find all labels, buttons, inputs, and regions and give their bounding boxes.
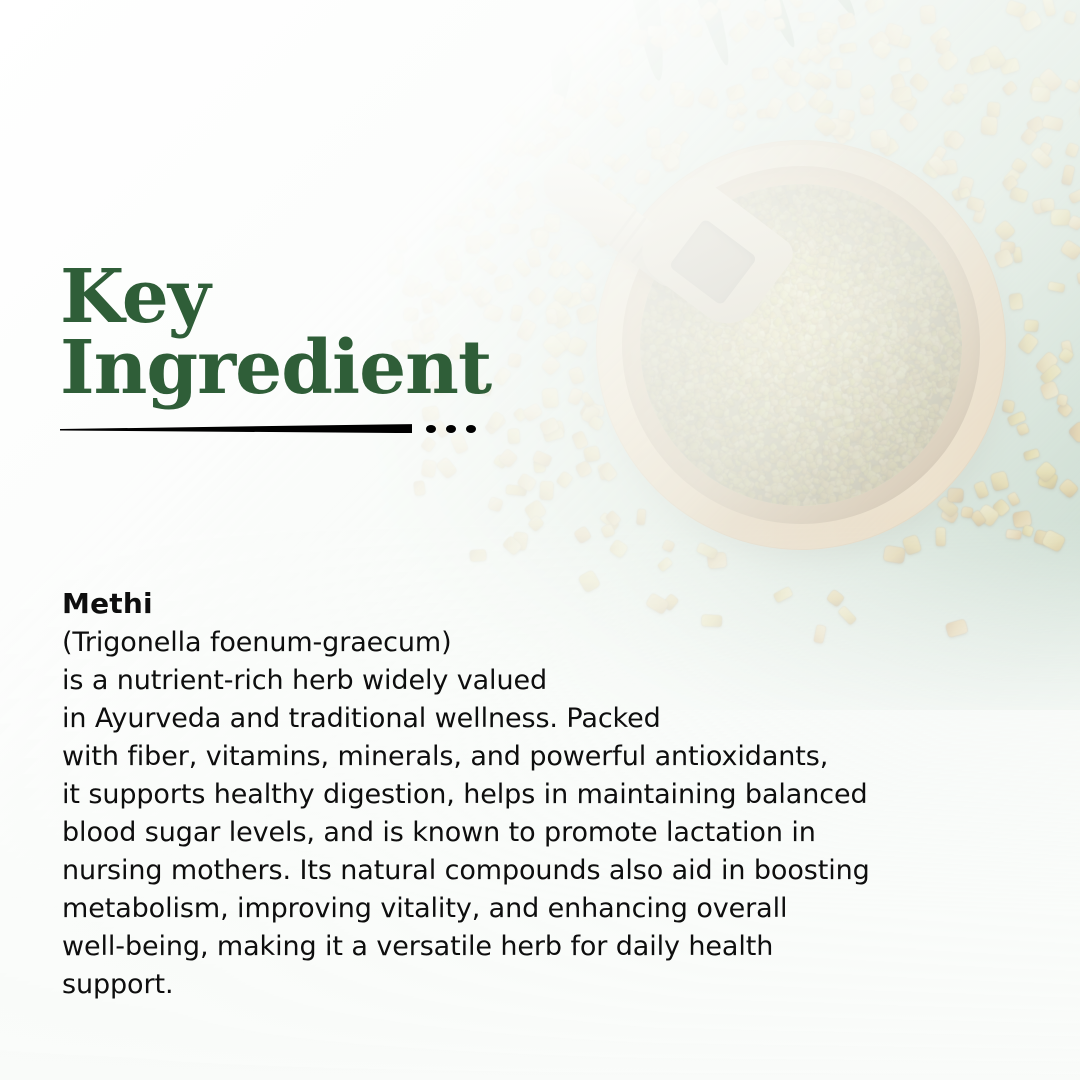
divider-dot [446, 425, 456, 433]
description-line: blood sugar levels, and is known to prom… [62, 814, 1042, 852]
divider-dot [466, 425, 476, 433]
fenugreek-seed-fill [640, 184, 962, 506]
poster-canvas: Key Ingredient Methi (Trigonella foenum-… [0, 0, 1080, 1080]
description-line: (Trigonella foenum-graecum) [62, 624, 1042, 662]
description-line: in Ayurveda and traditional wellness. Pa… [62, 700, 1042, 738]
ingredient-description: (Trigonella foenum-graecum)is a nutrient… [62, 624, 1042, 1004]
description-line: it supports healthy digestion, helps in … [62, 776, 1042, 814]
description-line: is a nutrient-rich herb widely valued [62, 662, 1042, 700]
description-line: support. [62, 966, 1042, 1004]
divider-dots [426, 425, 476, 433]
description-line: well-being, making it a versatile herb f… [62, 928, 1042, 966]
ingredient-name: Methi [62, 586, 1042, 623]
palm-leaf-icon [400, 0, 920, 180]
page-title: Key Ingredient [60, 262, 580, 433]
description-line: with fiber, vitamins, minerals, and powe… [62, 738, 1042, 776]
title-divider [60, 424, 580, 433]
divider-dot [426, 425, 436, 433]
divider-bar [60, 424, 412, 433]
description-line: nursing mothers. Its natural compounds a… [62, 852, 1042, 890]
description-block: Methi (Trigonella foenum-graecum)is a nu… [62, 586, 1042, 1004]
title-line-2: Ingredient [60, 333, 580, 404]
wooden-bowl [596, 140, 1006, 550]
description-line: metabolism, improving vitality, and enha… [62, 890, 1042, 928]
